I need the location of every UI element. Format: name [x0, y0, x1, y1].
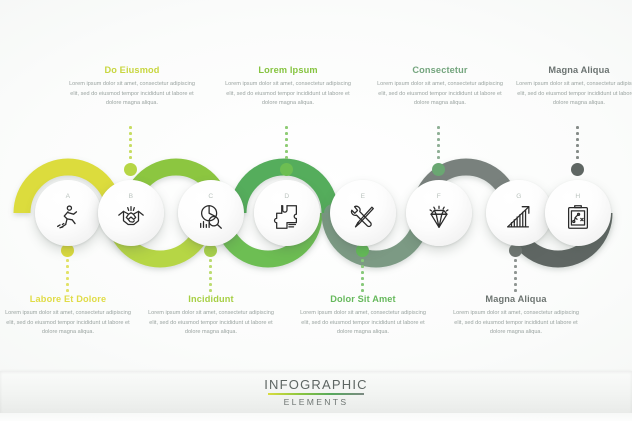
puzzle-pieces-icon [272, 202, 302, 232]
top-block-2-title: Lorem Ipsum [222, 65, 354, 75]
growth-chart-arrow-icon [504, 202, 534, 232]
bottom-block-4-text: Lorem ipsum dolor sit amet, consectetur … [450, 309, 582, 338]
footer-title: INFOGRAPHIC [264, 378, 367, 391]
top-block-4: Magna Aliqua Lorem ipsum dolor sit amet,… [513, 65, 632, 109]
top-block-3: Consectetur Lorem ipsum dolor sit amet, … [374, 65, 506, 109]
node-c[interactable]: C [178, 180, 244, 246]
bottom-block-2-text: Lorem ipsum dolor sit amet, consectetur … [145, 309, 277, 338]
connector-dots-bottom-2 [208, 259, 213, 292]
bottom-block-2: Incididunt Lorem ipsum dolor sit amet, c… [145, 294, 277, 338]
pie-chart-magnifier-icon [196, 202, 226, 232]
top-block-3-text: Lorem ipsum dolor sit amet, consectetur … [374, 80, 506, 109]
tools-wrench-screwdriver-icon [348, 202, 378, 232]
node-letter: H [575, 194, 580, 201]
bottom-block-1-text: Lorem ipsum dolor sit amet, consectetur … [2, 309, 134, 338]
connector-dots-bottom-1 [65, 259, 70, 292]
node-letter: B [129, 194, 134, 201]
bottom-block-3-title: Dolor Sit Amet [297, 294, 429, 304]
top-block-2: Lorem Ipsum Lorem ipsum dolor sit amet, … [222, 65, 354, 109]
node-letter: E [361, 194, 366, 201]
bottom-block-4-title: Magna Aliqua [450, 294, 582, 304]
top-block-1-title: Do Eiusmod [66, 65, 198, 75]
bottom-block-4: Magna Aliqua Lorem ipsum dolor sit amet,… [450, 294, 582, 338]
top-block-4-text: Lorem ipsum dolor sit amet, consectetur … [513, 80, 632, 109]
handshake-icon [116, 202, 146, 232]
connector-dots-top-3 [436, 126, 441, 159]
footer-gradient-bar [268, 393, 364, 396]
connector-knob-top-1 [124, 163, 137, 176]
node-letter: F [437, 194, 441, 201]
top-block-4-title: Magna Aliqua [513, 65, 632, 75]
connector-dots-top-4 [575, 126, 580, 159]
clipboard-strategy-icon [563, 202, 593, 232]
top-block-1-text: Lorem ipsum dolor sit amet, consectetur … [66, 80, 198, 109]
node-g[interactable]: G [486, 180, 552, 246]
node-h[interactable]: H [545, 180, 611, 246]
node-d[interactable]: D [254, 180, 320, 246]
connector-knob-top-4 [571, 163, 584, 176]
footer-subtitle: ELEMENTS [284, 398, 349, 407]
node-e[interactable]: E [330, 180, 396, 246]
bottom-block-3-text: Lorem ipsum dolor sit amet, consectetur … [297, 309, 429, 338]
node-a[interactable]: A [35, 180, 101, 246]
node-letter: C [208, 194, 213, 201]
infographic-canvas: A B C [0, 0, 632, 421]
connector-dots-top-1 [128, 126, 133, 159]
node-letter: G [516, 194, 522, 201]
connector-dots-top-2 [284, 126, 289, 159]
bottom-block-1-title: Labore Et Dolore [2, 294, 134, 304]
connector-dots-bottom-4 [513, 259, 518, 292]
top-block-1: Do Eiusmod Lorem ipsum dolor sit amet, c… [66, 65, 198, 109]
connector-dots-bottom-3 [360, 259, 365, 292]
connector-knob-top-3 [432, 163, 445, 176]
node-b[interactable]: B [98, 180, 164, 246]
top-block-3-title: Consectetur [374, 65, 506, 75]
diamond-icon [424, 202, 454, 232]
node-letter: D [284, 194, 289, 201]
footer-logo-bar: INFOGRAPHIC ELEMENTS [0, 371, 632, 413]
bottom-block-3: Dolor Sit Amet Lorem ipsum dolor sit ame… [297, 294, 429, 338]
node-letter: A [66, 194, 71, 201]
running-person-icon [53, 202, 83, 232]
bottom-block-1: Labore Et Dolore Lorem ipsum dolor sit a… [2, 294, 134, 338]
node-f[interactable]: F [406, 180, 472, 246]
top-block-2-text: Lorem ipsum dolor sit amet, consectetur … [222, 80, 354, 109]
bottom-block-2-title: Incididunt [145, 294, 277, 304]
connector-knob-top-2 [280, 163, 293, 176]
